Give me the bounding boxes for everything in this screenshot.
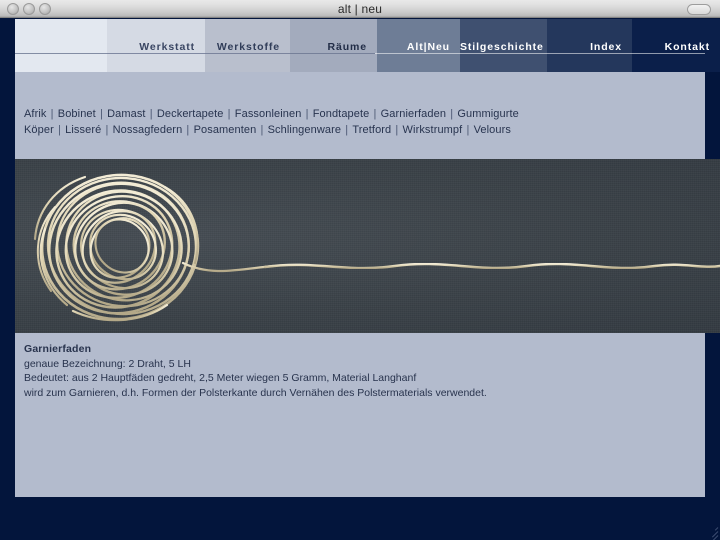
nav-tab-werkstoffe[interactable]: Werkstoffe bbox=[205, 19, 290, 72]
link-separator: | bbox=[301, 108, 312, 120]
caption-line-2: Bedeutet: aus 2 Hauptfäden gedreht, 2,5 … bbox=[24, 371, 674, 385]
caption-line-3: wird zum Garnieren, d.h. Formen der Pols… bbox=[24, 386, 674, 400]
link-separator: | bbox=[146, 108, 157, 120]
material-link[interactable]: Fondtapete bbox=[313, 108, 370, 120]
material-link[interactable]: Köper bbox=[24, 124, 54, 136]
link-separator: | bbox=[101, 124, 112, 136]
link-separator: | bbox=[341, 124, 352, 136]
material-link[interactable]: Deckertapete bbox=[157, 108, 224, 120]
material-link[interactable]: Garnierfaden bbox=[381, 108, 446, 120]
nav-tab-label: Räume bbox=[290, 41, 367, 53]
nav-tab-label: Kontakt bbox=[632, 41, 710, 53]
link-separator: | bbox=[391, 124, 402, 136]
caption-title: Garnierfaden bbox=[24, 342, 674, 356]
nav-tab-index[interactable]: Index bbox=[547, 19, 632, 72]
link-separator: | bbox=[47, 108, 58, 120]
material-link-row-1: Afrik | Bobinet | Damast | Deckertapete … bbox=[24, 107, 684, 123]
browser-window: alt | neu WerkstattWerkstoffeRäumeAlt|Ne… bbox=[0, 0, 720, 540]
material-link-row-2: Köper | Lisseré | Nossagfedern | Posamen… bbox=[24, 123, 684, 139]
material-link[interactable]: Gummigurte bbox=[457, 108, 519, 120]
nav-tab-label: Werkstoffe bbox=[205, 41, 280, 53]
nav-tab-alt-neu[interactable]: Alt|Neu bbox=[377, 19, 460, 72]
nav-tab-werkstatt[interactable]: Werkstatt bbox=[107, 19, 205, 72]
nav-tab-kontakt[interactable]: Kontakt bbox=[632, 19, 720, 72]
cord-coil-illustration bbox=[15, 159, 720, 333]
nav-spacer bbox=[15, 19, 107, 72]
material-link[interactable]: Lisseré bbox=[65, 124, 101, 136]
material-link[interactable]: Nossagfedern bbox=[113, 124, 183, 136]
material-link[interactable]: Afrik bbox=[24, 108, 47, 120]
nav-underline-dark bbox=[15, 53, 375, 54]
main-navigation: WerkstattWerkstoffeRäumeAlt|NeuStilgesch… bbox=[15, 19, 705, 72]
link-separator: | bbox=[96, 108, 107, 120]
material-link[interactable]: Damast bbox=[107, 108, 146, 120]
material-link[interactable]: Wirkstrumpf bbox=[403, 124, 463, 136]
window-titlebar[interactable]: alt | neu bbox=[0, 0, 720, 18]
window-title: alt | neu bbox=[0, 0, 720, 18]
link-separator: | bbox=[224, 108, 235, 120]
material-link[interactable]: Velours bbox=[474, 124, 511, 136]
nav-tab-r-ume[interactable]: Räume bbox=[290, 19, 377, 72]
link-separator: | bbox=[446, 108, 457, 120]
link-separator: | bbox=[54, 124, 65, 136]
window-resize-grip[interactable] bbox=[704, 524, 718, 538]
caption-line-1: genaue Bezeichnung: 2 Draht, 5 LH bbox=[24, 357, 674, 371]
material-link[interactable]: Posamenten bbox=[194, 124, 257, 136]
item-caption: Garnierfaden genaue Bezeichnung: 2 Draht… bbox=[24, 342, 674, 400]
material-link[interactable]: Tretford bbox=[352, 124, 391, 136]
nav-tab-label: Werkstatt bbox=[107, 41, 195, 53]
link-separator: | bbox=[182, 124, 193, 136]
garnierfaden-coil-photo bbox=[15, 159, 720, 333]
toolbar-toggle-button[interactable] bbox=[687, 4, 711, 15]
material-link[interactable]: Bobinet bbox=[58, 108, 96, 120]
link-separator: | bbox=[369, 108, 380, 120]
material-link[interactable]: Schlingenware bbox=[268, 124, 341, 136]
link-separator: | bbox=[256, 124, 267, 136]
nav-tab-label: Stilgeschichte bbox=[460, 41, 537, 53]
material-link[interactable]: Fassonleinen bbox=[235, 108, 302, 120]
page-canvas: WerkstattWerkstoffeRäumeAlt|NeuStilgesch… bbox=[0, 19, 720, 540]
cord-strand bbox=[265, 264, 720, 268]
nav-tab-label: Alt|Neu bbox=[377, 41, 450, 53]
nav-tab-stilgeschichte[interactable]: Stilgeschichte bbox=[460, 19, 547, 72]
link-separator: | bbox=[462, 124, 473, 136]
nav-tab-label: Index bbox=[547, 41, 622, 53]
material-link-list: Afrik | Bobinet | Damast | Deckertapete … bbox=[24, 107, 684, 138]
